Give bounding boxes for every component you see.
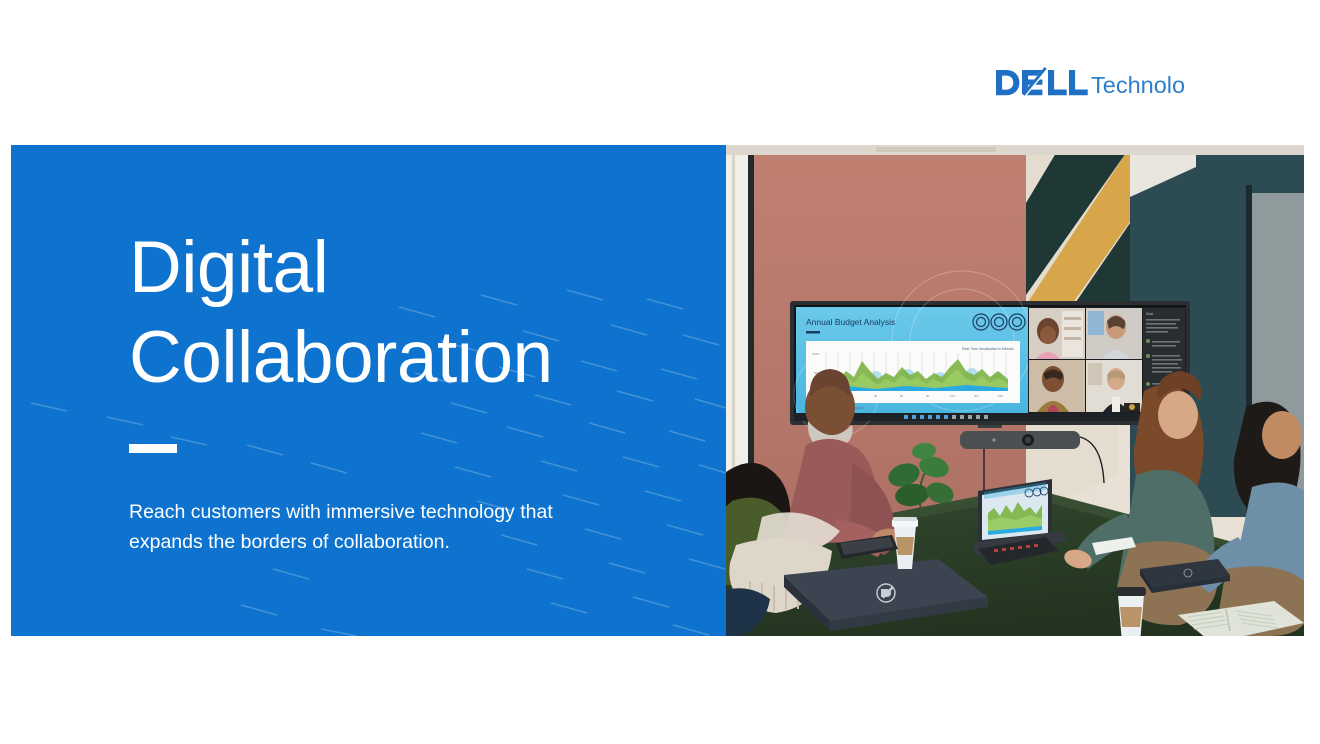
svg-text:60: 60 bbox=[900, 394, 904, 398]
svg-text:40: 40 bbox=[874, 394, 878, 398]
hero-text-panel: Digital Collaboration Reach customers wi… bbox=[11, 145, 726, 636]
photo-illustration: Annual Budget Analysis Real-Time Visuali… bbox=[726, 145, 1304, 636]
svg-text:R/S: R/S bbox=[974, 394, 979, 398]
chat-panel-title: Chat bbox=[1146, 312, 1153, 316]
dell-technologies-wordmark: Technologies bbox=[994, 66, 1184, 100]
title-accent-rule bbox=[129, 444, 177, 453]
hero-band: Digital Collaboration Reach customers wi… bbox=[11, 145, 1304, 636]
slide-title: Annual Budget Analysis bbox=[806, 317, 895, 327]
brand-suffix-text: Technologies bbox=[1091, 72, 1184, 98]
dell-technologies-logo: Technologies bbox=[994, 66, 1184, 100]
conference-room-photo: Annual Budget Analysis Real-Time Visuali… bbox=[726, 145, 1304, 636]
hero-content: Digital Collaboration Reach customers wi… bbox=[129, 145, 689, 636]
chart-caption: Real-Time Visualization in Minutes bbox=[962, 347, 1014, 351]
svg-text:100: 100 bbox=[950, 394, 955, 398]
svg-text:100%: 100% bbox=[812, 352, 820, 356]
page-subtitle: Reach customers with immersive technolog… bbox=[129, 497, 629, 557]
svg-text:80: 80 bbox=[926, 394, 930, 398]
page-title: Digital Collaboration bbox=[129, 223, 669, 403]
svg-text:180: 180 bbox=[998, 394, 1003, 398]
